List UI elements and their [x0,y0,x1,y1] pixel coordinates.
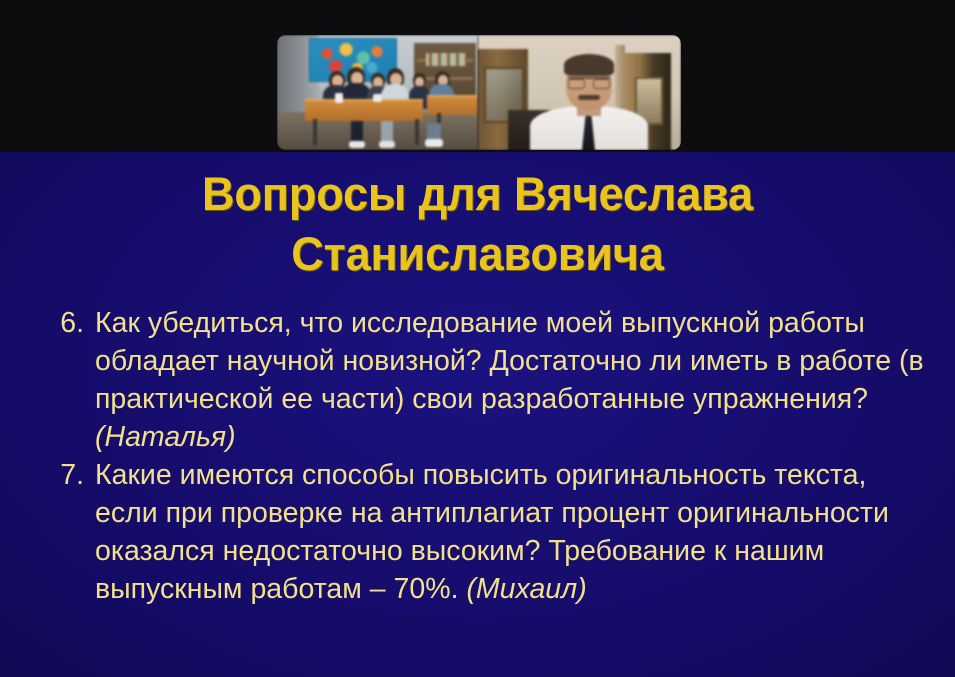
video-tile-group [277,35,681,150]
desk-leg [313,119,317,145]
student-shoe [379,141,395,148]
presentation-screen: Вопросы для Вячеслава Станиславовича 6. … [0,0,955,677]
question-attribution: (Михаил) [466,573,586,605]
speaker-glasses [568,77,610,88]
video-tile-speaker-presenter[interactable] [478,35,681,150]
question-body: Как убедиться, что исследование моей вып… [95,307,924,415]
classroom-desk [427,95,478,115]
list-item-number: 7. [44,456,95,494]
list-item-text: Как убедиться, что исследование моей вып… [95,304,924,456]
classroom-desk [305,99,423,121]
speaker-hair [564,54,614,76]
list-item-number: 6. [44,304,95,342]
video-conference-strip [0,0,955,152]
student-shoe [349,141,365,148]
paper-cup [335,93,343,103]
list-item: 6. Как убедиться, что исследование моей … [44,304,924,456]
slide-title: Вопросы для Вячеслава Станиславовича [19,164,936,284]
desk-leg [415,119,419,145]
slide-title-line-1: Вопросы для Вячеслава [19,164,936,224]
slide-area: Вопросы для Вячеслава Станиславовича 6. … [0,152,955,677]
speaker-mustache [578,95,600,100]
question-list: 6. Как убедиться, что исследование моей … [44,304,924,608]
slide-title-line-2: Станиславовича [19,224,936,284]
student-shoe [425,139,443,147]
list-item-text: Какие имеются способы повысить оригиналь… [95,456,924,608]
question-attribution: (Наталья) [95,421,236,453]
video-tile-classroom-participants[interactable] [277,35,478,150]
list-item: 7. Какие имеются способы повысить оригин… [44,456,924,608]
paper-sheet [373,94,382,102]
classroom-books [426,53,466,66]
